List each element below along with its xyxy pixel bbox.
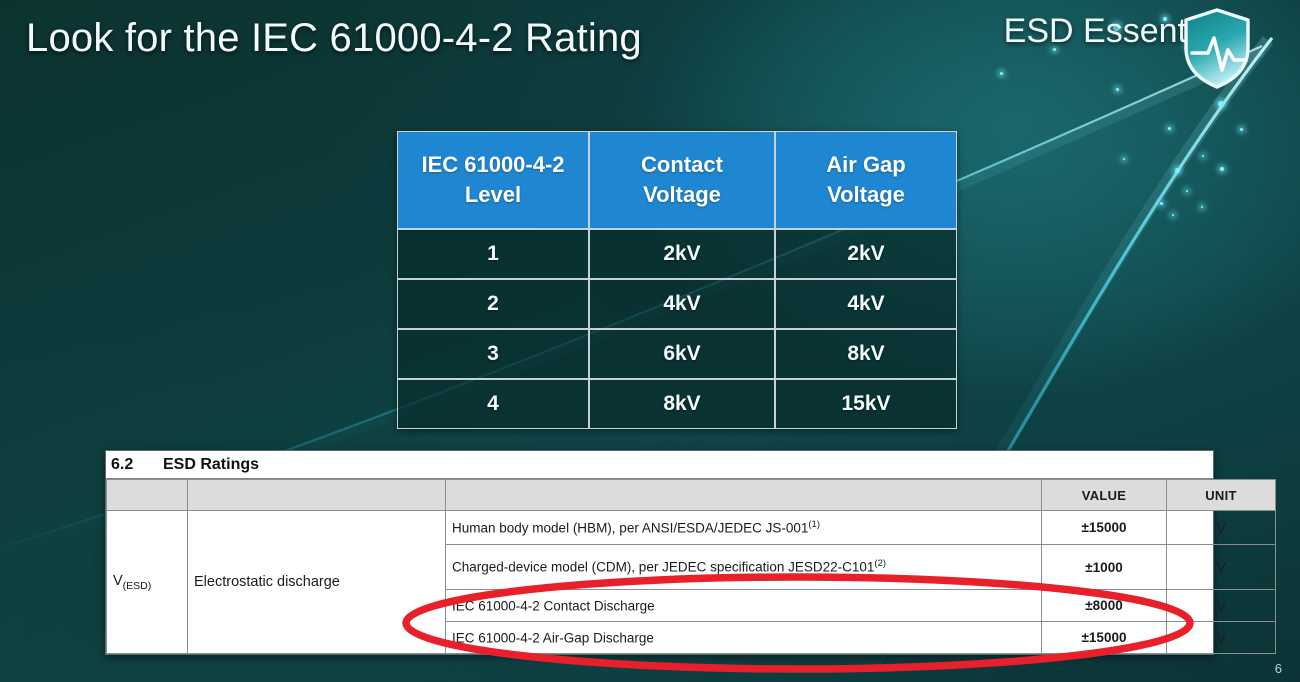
esd-condition-cell: IEC 61000-4-2 Contact Discharge <box>446 590 1042 622</box>
iec-cell-level: 4 <box>397 379 589 429</box>
esd-unit-cell: V <box>1167 511 1276 545</box>
section-title: ESD Ratings <box>163 456 259 474</box>
sparkle-dot <box>1175 168 1180 173</box>
sparkle-dot <box>1168 127 1171 130</box>
sparkle-dot <box>1220 167 1224 171</box>
esd-unit-cell: V <box>1167 590 1276 622</box>
sparkle-dot <box>1172 214 1174 216</box>
esd-value-cell: ±1000 <box>1042 545 1167 590</box>
esd-condition-text: Charged-device model (CDM), per JEDEC sp… <box>452 560 874 575</box>
sparkle-dot <box>1160 202 1163 205</box>
iec-cell-airgap: 8kV <box>775 329 957 379</box>
esd-parameter-cell: Electrostatic discharge <box>188 511 446 654</box>
esd-condition-footnote: (1) <box>808 519 820 530</box>
esd-condition-cell: IEC 61000-4-2 Air-Gap Discharge <box>446 622 1042 654</box>
iec-header-level-line1: IEC 61000-4-2 <box>421 152 564 177</box>
iec-cell-contact: 8kV <box>589 379 775 429</box>
esd-header-condition <box>446 480 1042 511</box>
sparkle-dot <box>1218 101 1224 107</box>
iec-cell-level: 3 <box>397 329 589 379</box>
esd-symbol-cell: V(ESD) <box>107 511 188 654</box>
esd-ratings-table: VALUE UNIT V(ESD) Electrostatic discharg… <box>106 479 1276 654</box>
iec-header-contact: Contact Voltage <box>589 131 775 229</box>
esd-header-symbol <box>107 480 188 511</box>
esd-value-cell: ±15000 <box>1042 511 1167 545</box>
iec-header-contact-line1: Contact <box>641 152 723 177</box>
iec-cell-airgap: 2kV <box>775 229 957 279</box>
esd-condition-text: IEC 61000-4-2 Contact Discharge <box>452 598 655 613</box>
iec-cell-level: 1 <box>397 229 589 279</box>
iec-header-airgap-line1: Air Gap <box>826 152 905 177</box>
iec-header-contact-line2: Voltage <box>643 182 721 207</box>
esd-header-parameter <box>188 480 446 511</box>
iec-cell-contact: 6kV <box>589 329 775 379</box>
slide-title: Look for the IEC 61000-4-2 Rating <box>26 16 642 61</box>
esd-header-unit: UNIT <box>1167 480 1276 511</box>
sparkle-dot <box>1186 190 1188 192</box>
datasheet-excerpt: 6.2 ESD Ratings VALUE UNIT V(ESD) Electr… <box>105 450 1214 655</box>
esd-header-value: VALUE <box>1042 480 1167 511</box>
brand-wordmark: ESD Essentials <box>1004 12 1238 51</box>
table-row: 4 8kV 15kV <box>397 379 957 429</box>
esd-condition-text: IEC 61000-4-2 Air-Gap Discharge <box>452 630 654 645</box>
esd-condition-cell: Charged-device model (CDM), per JEDEC sp… <box>446 545 1042 590</box>
iec-cell-airgap: 15kV <box>775 379 957 429</box>
esd-condition-cell: Human body model (HBM), per ANSI/ESDA/JE… <box>446 511 1042 545</box>
esd-value-cell: ±8000 <box>1042 590 1167 622</box>
table-row: V(ESD) Electrostatic discharge Human bod… <box>107 511 1276 545</box>
table-row: 2 4kV 4kV <box>397 279 957 329</box>
sparkle-dot <box>1123 158 1125 160</box>
iec-cell-airgap: 4kV <box>775 279 957 329</box>
datasheet-section-heading: 6.2 ESD Ratings <box>106 451 1213 479</box>
iec-header-level-line2: Level <box>465 182 521 207</box>
esd-condition-text: Human body model (HBM), per ANSI/ESDA/JE… <box>452 520 808 535</box>
iec-table-header-row: IEC 61000-4-2 Level Contact Voltage Air … <box>397 131 957 229</box>
iec-cell-contact: 2kV <box>589 229 775 279</box>
page-number: 6 <box>1275 661 1282 676</box>
slide-canvas: Look for the IEC 61000-4-2 Rating ESD Es… <box>0 0 1300 682</box>
sparkle-dot <box>1116 88 1119 91</box>
sparkle-dot <box>1240 128 1243 131</box>
shield-pulse-icon <box>1182 8 1252 90</box>
table-row: 3 6kV 8kV <box>397 329 957 379</box>
iec-header-airgap: Air Gap Voltage <box>775 131 957 229</box>
esd-symbol: V <box>113 573 123 589</box>
esd-value-cell: ±15000 <box>1042 622 1167 654</box>
sparkle-dot <box>1201 206 1203 208</box>
sparkle-dot <box>1000 72 1003 75</box>
section-number: 6.2 <box>111 456 163 474</box>
esd-table-header-row: VALUE UNIT <box>107 480 1276 511</box>
table-row: 1 2kV 2kV <box>397 229 957 279</box>
esd-condition-footnote: (2) <box>874 558 886 569</box>
iec-cell-contact: 4kV <box>589 279 775 329</box>
esd-symbol-subscript: (ESD) <box>123 579 152 591</box>
iec-header-level: IEC 61000-4-2 Level <box>397 131 589 229</box>
iec-level-table: IEC 61000-4-2 Level Contact Voltage Air … <box>397 131 957 429</box>
iec-cell-level: 2 <box>397 279 589 329</box>
iec-header-airgap-line2: Voltage <box>827 182 905 207</box>
sparkle-dot <box>1202 155 1204 157</box>
esd-unit-cell: V <box>1167 545 1276 590</box>
esd-unit-cell: V <box>1167 622 1276 654</box>
